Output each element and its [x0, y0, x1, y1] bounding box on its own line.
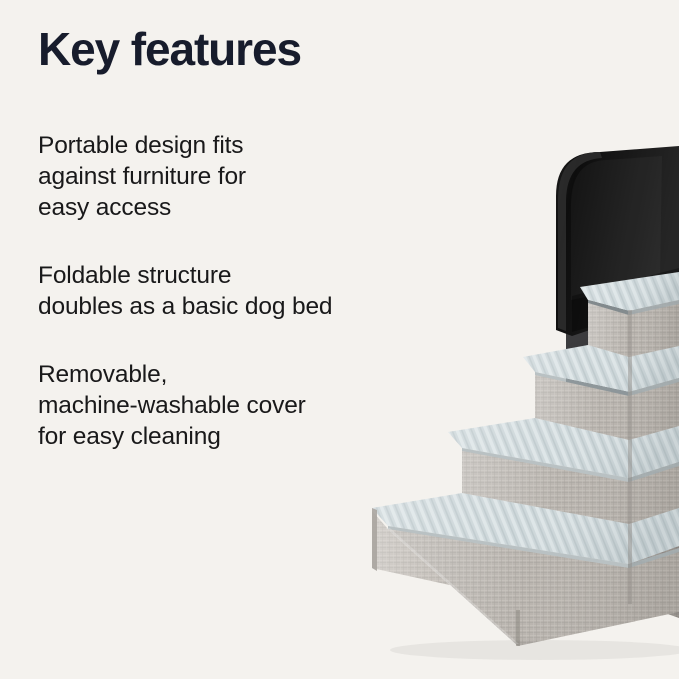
text-column: Key features Portable design fits agains… — [38, 0, 388, 452]
list-item: Foldable structure doubles as a basic do… — [38, 260, 388, 322]
key-features-card: Key features Portable design fits agains… — [0, 0, 679, 679]
page-title: Key features — [38, 0, 388, 76]
list-item: Removable, machine-washable cover for ea… — [38, 359, 388, 452]
list-item: Portable design fits against furniture f… — [38, 130, 388, 223]
features-list: Portable design fits against furniture f… — [38, 130, 388, 453]
